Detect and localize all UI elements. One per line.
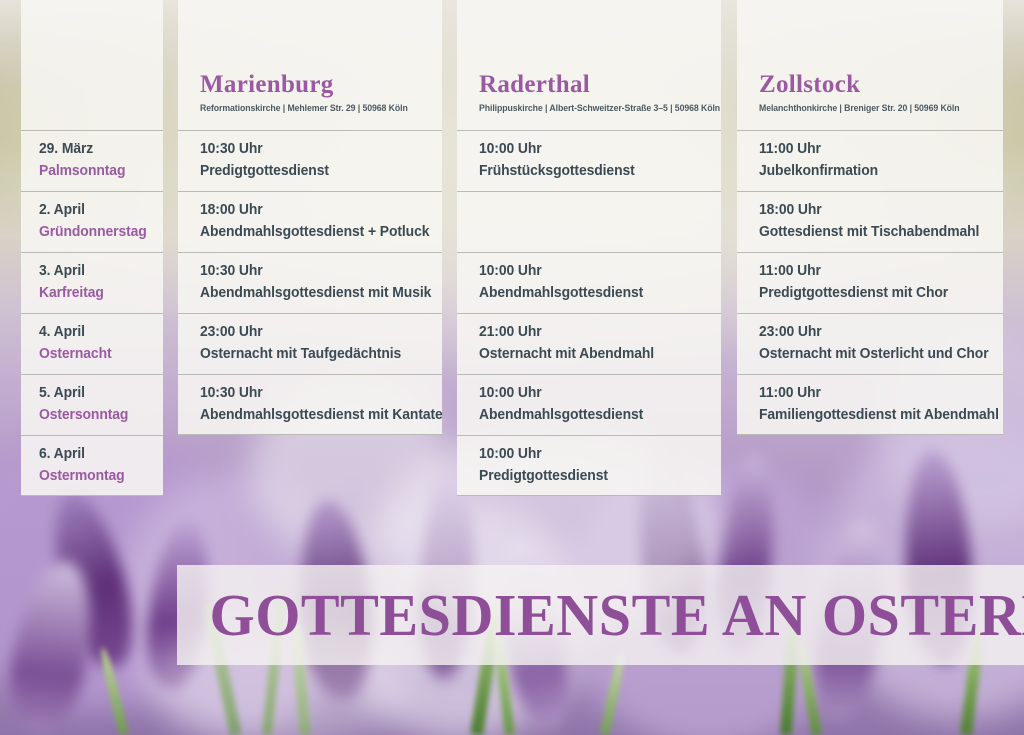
page-title: GOTTESDIENSTE AN OSTERN bbox=[177, 586, 1024, 645]
table-row: 18:00 Uhr Abendmahlsgottesdienst + Potlu… bbox=[178, 191, 442, 252]
service-name: Familiengottesdienst mit Abendmahl bbox=[759, 407, 993, 425]
service-name: Abendmahlsgottesdienst mit Musik bbox=[200, 285, 432, 303]
table-row: 11:00 Uhr Predigtgottesdienst mit Chor bbox=[737, 252, 1003, 313]
service-name: Jubelkonfirmation bbox=[759, 163, 993, 181]
table-row: 18:00 Uhr Gottesdienst mit Tischabendmah… bbox=[737, 191, 1003, 252]
service-time: 10:30 Uhr bbox=[200, 141, 432, 159]
row-occasion: Osternacht bbox=[39, 346, 158, 364]
service-time: 21:00 Uhr bbox=[479, 324, 711, 342]
service-name: Osternacht mit Taufgedächtnis bbox=[200, 346, 432, 364]
table-row-empty bbox=[457, 191, 721, 252]
zollstock-header: Zollstock Melanchthonkirche | Breniger S… bbox=[737, 0, 1003, 130]
service-name: Osternacht mit Osterlicht und Chor bbox=[759, 346, 993, 364]
table-row: 23:00 Uhr Osternacht mit Osterlicht und … bbox=[737, 313, 1003, 374]
service-name: Predigtgottesdienst bbox=[200, 163, 432, 181]
table-row: 29. März Palmsonntag bbox=[21, 130, 163, 191]
row-date: 3. April bbox=[39, 263, 158, 281]
row-date: 29. März bbox=[39, 141, 158, 159]
service-time: 18:00 Uhr bbox=[200, 202, 432, 220]
row-date: 4. April bbox=[39, 324, 158, 342]
marienburg-header: Marienburg Reformationskirche | Mehlemer… bbox=[178, 0, 442, 130]
service-time: 23:00 Uhr bbox=[200, 324, 432, 342]
table-row: 21:00 Uhr Osternacht mit Abendmahl bbox=[457, 313, 721, 374]
table-row: 10:00 Uhr Abendmahlsgottesdienst bbox=[457, 252, 721, 313]
service-time: 10:30 Uhr bbox=[200, 263, 432, 281]
table-row: 10:00 Uhr Abendmahlsgottesdienst bbox=[457, 374, 721, 435]
service-time: 10:00 Uhr bbox=[479, 141, 711, 159]
row-occasion: Ostersonntag bbox=[39, 407, 158, 425]
location-address: Reformationskirche | Mehlemer Str. 29 | … bbox=[200, 104, 423, 114]
column-dates: 29. März Palmsonntag 2. April Gründonner… bbox=[21, 0, 163, 496]
service-time: 18:00 Uhr bbox=[759, 202, 993, 220]
service-time: 11:00 Uhr bbox=[759, 141, 993, 159]
service-name: Predigtgottesdienst bbox=[479, 468, 711, 486]
service-time: 10:00 Uhr bbox=[479, 446, 711, 464]
service-name: Abendmahlsgottesdienst + Potluck bbox=[200, 224, 432, 242]
row-date: 6. April bbox=[39, 446, 158, 464]
table-row: 23:00 Uhr Osternacht mit Taufgedächtnis bbox=[178, 313, 442, 374]
easter-services-poster: 29. März Palmsonntag 2. April Gründonner… bbox=[0, 0, 1024, 735]
service-name: Gottesdienst mit Tischabendmahl bbox=[759, 224, 993, 242]
service-time: 10:00 Uhr bbox=[479, 263, 711, 281]
table-row: 4. April Osternacht bbox=[21, 313, 163, 374]
location-address: Philippuskirche | Albert-Schweitzer-Stra… bbox=[479, 104, 702, 114]
raderthal-header: Raderthal Philippuskirche | Albert-Schwe… bbox=[457, 0, 721, 130]
table-row: 10:30 Uhr Abendmahlsgottesdienst mit Mus… bbox=[178, 252, 442, 313]
location-address: Melanchthonkirche | Breniger Str. 20 | 5… bbox=[759, 104, 983, 114]
service-name: Predigtgottesdienst mit Chor bbox=[759, 285, 993, 303]
column-zollstock: Zollstock Melanchthonkirche | Breniger S… bbox=[737, 0, 1003, 435]
service-time: 10:00 Uhr bbox=[479, 385, 711, 403]
location-name: Raderthal bbox=[479, 72, 721, 97]
table-row: 11:00 Uhr Familiengottesdienst mit Abend… bbox=[737, 374, 1003, 435]
service-time: 23:00 Uhr bbox=[759, 324, 993, 342]
service-time: 11:00 Uhr bbox=[759, 385, 993, 403]
table-row: 10:30 Uhr Predigtgottesdienst bbox=[178, 130, 442, 191]
location-name: Zollstock bbox=[759, 72, 1003, 97]
service-name: Abendmahlsgottesdienst bbox=[479, 285, 711, 303]
service-time: 10:30 Uhr bbox=[200, 385, 432, 403]
row-occasion: Palmsonntag bbox=[39, 163, 158, 181]
row-date: 5. April bbox=[39, 385, 158, 403]
location-name: Marienburg bbox=[200, 72, 442, 97]
title-banner: GOTTESDIENSTE AN OSTERN bbox=[177, 565, 1024, 665]
row-occasion: Karfreitag bbox=[39, 285, 158, 303]
table-row: 11:00 Uhr Jubelkonfirmation bbox=[737, 130, 1003, 191]
service-name: Frühstücksgottesdienst bbox=[479, 163, 711, 181]
table-row: 10:30 Uhr Abendmahlsgottesdienst mit Kan… bbox=[178, 374, 442, 435]
table-row: 6. April Ostermontag bbox=[21, 435, 163, 496]
table-row: 5. April Ostersonntag bbox=[21, 374, 163, 435]
row-occasion: Gründonnerstag bbox=[39, 224, 158, 242]
table-row: 2. April Gründonnerstag bbox=[21, 191, 163, 252]
table-row: 10:00 Uhr Predigtgottesdienst bbox=[457, 435, 721, 496]
table-row: 10:00 Uhr Frühstücksgottesdienst bbox=[457, 130, 721, 191]
table-row: 3. April Karfreitag bbox=[21, 252, 163, 313]
service-name: Osternacht mit Abendmahl bbox=[479, 346, 711, 364]
service-time: 11:00 Uhr bbox=[759, 263, 993, 281]
service-name: Abendmahlsgottesdienst mit Kantate bbox=[200, 407, 432, 425]
row-occasion: Ostermontag bbox=[39, 468, 158, 486]
service-name: Abendmahlsgottesdienst bbox=[479, 407, 711, 425]
column-raderthal: Raderthal Philippuskirche | Albert-Schwe… bbox=[457, 0, 721, 496]
date-column-header bbox=[21, 0, 163, 130]
column-marienburg: Marienburg Reformationskirche | Mehlemer… bbox=[178, 0, 442, 435]
row-date: 2. April bbox=[39, 202, 158, 220]
